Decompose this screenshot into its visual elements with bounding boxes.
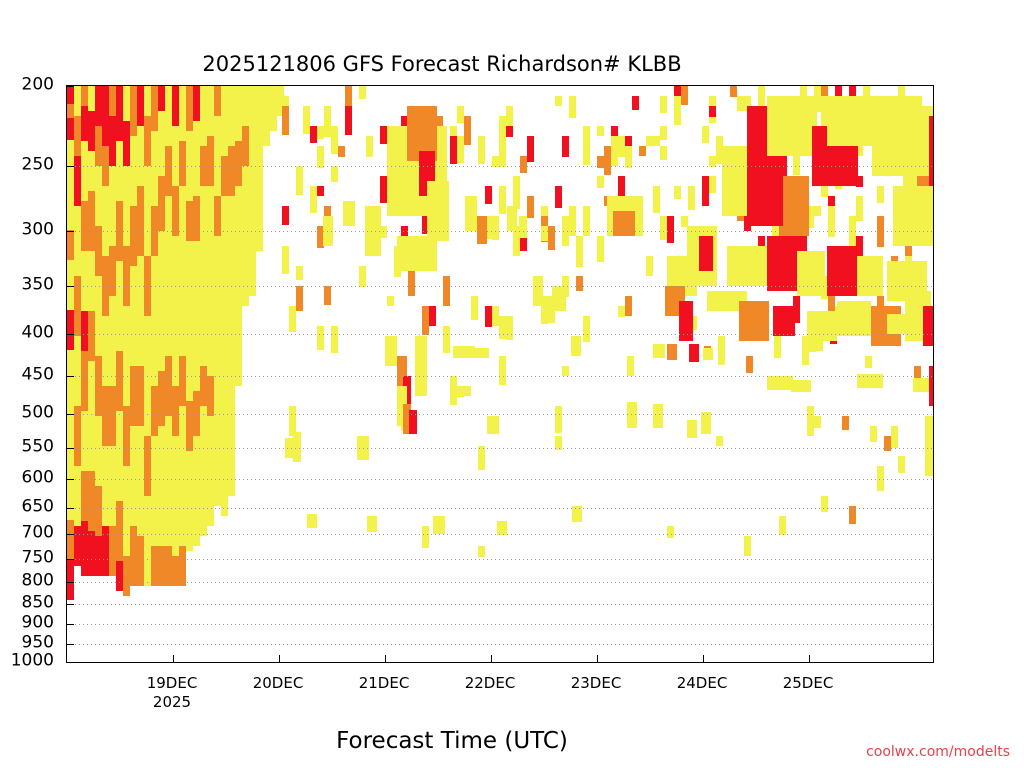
heatmap-cell <box>632 96 639 110</box>
heatmap-cell <box>541 206 548 216</box>
heatmap-cell <box>572 506 582 522</box>
heatmap-cell <box>499 186 506 214</box>
heatmap-cell <box>898 456 905 473</box>
heatmap-cell <box>499 316 506 339</box>
heatmap-cell <box>562 366 569 376</box>
heatmap-cell <box>207 136 214 186</box>
heatmap-cell <box>130 526 137 586</box>
heatmap-cell <box>380 176 387 203</box>
y-tick-label: 500 <box>22 404 54 421</box>
heatmap-cell <box>172 436 179 556</box>
heatmap-cell <box>102 526 109 576</box>
heatmap-cell <box>380 126 387 144</box>
heatmap-cell <box>186 401 193 451</box>
heatmap-cell <box>289 306 296 332</box>
heatmap-cell <box>200 406 207 536</box>
heatmap-cell <box>186 131 193 201</box>
y-tick-label: 800 <box>22 573 54 590</box>
y-tick-label: 1000 <box>11 653 54 670</box>
heatmap-cell <box>453 346 475 358</box>
heatmap-cell <box>702 186 709 206</box>
heatmap-cell <box>193 121 200 196</box>
heatmap-cell <box>576 276 583 291</box>
heatmap-cell <box>625 146 632 168</box>
heatmap-cell <box>67 86 74 104</box>
heatmap-cell <box>81 351 88 411</box>
heatmap-cell <box>137 426 144 536</box>
chart-title: 2025121806 GFS Forecast Richardson# KLBB <box>0 52 1024 76</box>
heatmap-cell <box>303 106 310 134</box>
heatmap-cell <box>137 186 144 256</box>
heatmap-cell <box>478 136 485 164</box>
heatmap-cell <box>186 201 193 241</box>
heatmap-cell <box>492 306 499 326</box>
heatmap-cell <box>74 116 81 156</box>
heatmap-cell <box>214 236 221 406</box>
heatmap-cell <box>323 216 333 246</box>
heatmap-cell <box>293 432 301 462</box>
heatmap-cell <box>282 246 289 274</box>
heatmap-cell <box>427 181 449 241</box>
heatmap-cell <box>144 86 151 116</box>
heatmap-cell <box>744 536 751 556</box>
x-tick <box>279 655 280 662</box>
heatmap-cell <box>746 356 753 373</box>
heatmap-cell <box>151 436 158 546</box>
heatmap-cell <box>151 131 158 206</box>
heatmap-cell <box>221 86 228 156</box>
plot-area <box>66 85 934 663</box>
heatmap-cell <box>165 546 172 586</box>
heatmap-cell <box>172 386 179 436</box>
heatmap-cell <box>249 136 256 296</box>
heatmap-cell <box>877 216 884 247</box>
heatmap-cell <box>172 236 179 386</box>
y-tick <box>67 534 74 535</box>
heatmap-cell <box>548 226 555 250</box>
heatmap-cell <box>387 296 394 306</box>
heatmap-cell <box>151 386 158 436</box>
heatmap-cell <box>102 256 109 316</box>
heatmap-cell <box>88 471 95 531</box>
heatmap-cell <box>158 111 165 176</box>
heatmap-cell <box>506 126 513 137</box>
heatmap-cell <box>527 136 534 162</box>
heatmap-cell <box>597 156 604 168</box>
heatmap-cell <box>67 230 74 260</box>
heatmap-cell <box>221 396 228 516</box>
heatmap-cell <box>625 136 632 146</box>
heatmap-cell <box>102 186 109 256</box>
heatmap-cell <box>95 166 102 226</box>
heatmap-cell <box>611 136 618 166</box>
y-tick <box>67 644 74 645</box>
heatmap-cell <box>667 344 677 360</box>
heatmap-cell <box>116 141 123 201</box>
heatmap-cell <box>158 546 165 586</box>
y-tick-label: 600 <box>22 470 54 487</box>
heatmap-cell <box>477 216 487 244</box>
heatmap-cell <box>877 186 884 203</box>
heatmap-cell <box>95 86 102 126</box>
heatmap-cell <box>172 86 179 126</box>
heatmap-cell <box>887 314 905 334</box>
heatmap-cell <box>137 86 144 126</box>
heatmap-cell <box>506 106 513 126</box>
heatmap-cell <box>109 86 116 116</box>
heatmap-cell <box>791 380 811 392</box>
heatmap-cell <box>123 121 130 166</box>
heatmap-cell <box>310 186 317 213</box>
heatmap-cell <box>415 336 427 396</box>
y-tick <box>67 376 74 377</box>
heatmap-cell <box>365 206 381 256</box>
heatmap-cell <box>923 306 934 346</box>
heatmap-cell <box>289 406 296 428</box>
heatmap-cell <box>102 386 109 446</box>
heatmap-cell <box>613 211 635 236</box>
heatmap-cell <box>367 516 377 532</box>
heatmap-cell <box>74 406 81 466</box>
heatmap-cell <box>471 296 478 320</box>
heatmap-cell <box>891 426 898 448</box>
heatmap-cell <box>457 106 464 123</box>
heatmap-cell <box>144 116 151 166</box>
heatmap-cell <box>123 306 130 406</box>
heatmap-cell <box>186 86 193 131</box>
heatmap-cell <box>849 216 856 246</box>
heatmap-cell <box>821 496 828 512</box>
heatmap-cell <box>343 201 355 226</box>
heatmap-cell <box>709 176 716 193</box>
heatmap-cell <box>857 374 883 388</box>
heatmap-cell <box>639 146 646 156</box>
heatmap-cell <box>487 416 499 434</box>
heatmap-cell <box>485 186 492 204</box>
x-tick-label: 25DEC <box>783 674 834 692</box>
heatmap-cell <box>478 446 485 470</box>
heatmap-cell <box>814 416 821 428</box>
heatmap-cell <box>193 391 200 436</box>
heatmap-cell <box>296 176 303 194</box>
heatmap-cell <box>324 106 331 137</box>
heatmap-cell <box>74 526 81 566</box>
heatmap-cell <box>674 186 681 199</box>
heatmap-cell <box>165 86 172 146</box>
heatmap-cell <box>74 156 81 206</box>
heatmap-cell <box>359 86 366 99</box>
heatmap-cell <box>228 146 235 196</box>
heatmap-cell <box>774 336 781 358</box>
heatmap-cell <box>397 236 437 271</box>
heatmap-cell <box>520 156 527 173</box>
y-tick-label: 200 <box>22 77 54 94</box>
heatmap-cell <box>130 206 137 266</box>
heatmap-cell <box>200 146 207 186</box>
heatmap-cell <box>179 356 186 406</box>
heatmap-cell <box>660 146 667 160</box>
heatmap-cell <box>123 466 130 556</box>
chart-root: 2025121806 GFS Forecast Richardson# KLBB… <box>0 0 1024 768</box>
heatmap-cell <box>207 86 214 136</box>
heatmap-cell <box>116 411 123 501</box>
heatmap-cell <box>527 196 534 218</box>
heatmap-cell <box>151 86 158 131</box>
heatmap-cell <box>200 366 207 406</box>
heatmap-cell <box>123 246 130 306</box>
heatmap-cell <box>88 311 95 361</box>
heatmap-cell <box>465 196 477 231</box>
heatmap-cell <box>473 348 489 358</box>
heatmap-cell <box>282 106 289 135</box>
heatmap-cell <box>151 546 158 586</box>
heatmap-cell <box>67 104 74 118</box>
heatmap-cell <box>88 151 95 191</box>
heatmap-cell <box>653 186 660 213</box>
heatmap-cell <box>165 416 172 546</box>
y-tick <box>67 414 74 415</box>
y-tick <box>67 582 74 583</box>
heatmap-cell <box>158 176 165 231</box>
heatmap-cell <box>485 306 492 327</box>
x-tick <box>491 655 492 662</box>
heatmap-cell <box>235 141 242 186</box>
heatmap-cell <box>296 266 303 280</box>
x-tick-label: 21DEC <box>359 674 410 692</box>
heatmap-cell <box>583 316 590 342</box>
heatmap-cell <box>74 206 81 276</box>
y-tick-label: 650 <box>22 498 54 515</box>
heatmap-cell <box>667 526 674 538</box>
colorbar <box>941 305 975 485</box>
heatmap-cell <box>310 126 317 143</box>
heatmap-cell <box>130 136 137 206</box>
heatmap-cell <box>646 136 653 146</box>
heatmap-cell <box>235 186 242 386</box>
heatmap-cell <box>130 426 137 526</box>
heatmap-cell <box>555 96 562 106</box>
y-tick-label: 700 <box>22 525 54 542</box>
heatmap-cell <box>228 86 235 146</box>
heatmap-cell <box>137 536 144 586</box>
heatmap-cell <box>151 256 158 386</box>
heatmap-cell <box>144 436 151 496</box>
heatmap-cell <box>221 196 228 396</box>
heatmap-cell <box>282 206 289 225</box>
heatmap-cell <box>457 136 464 163</box>
heatmap-cell <box>221 156 228 196</box>
heatmap-cell <box>507 206 517 231</box>
chart-title-text: 2025121806 GFS Forecast Richardson# KLBB <box>202 52 681 76</box>
heatmap-cell <box>618 136 625 157</box>
heatmap-cell <box>214 406 221 506</box>
heatmap-cell <box>109 446 116 526</box>
heatmap-cell <box>67 410 74 460</box>
heatmap-cell <box>450 136 457 164</box>
heatmap-cell <box>74 336 81 406</box>
heatmap-cell <box>67 260 74 310</box>
heatmap-cell <box>870 426 877 442</box>
heatmap-cell <box>478 546 485 557</box>
y-tick <box>67 286 74 287</box>
heatmap-cell <box>116 351 123 411</box>
heatmap-cell <box>464 116 471 145</box>
heatmap-cell <box>688 186 695 210</box>
heatmap-cell <box>857 256 883 296</box>
y-axis-labels: 2002503003504004505005506006507007508008… <box>0 85 62 663</box>
heatmap-cell <box>450 376 457 405</box>
x-tick <box>385 655 386 662</box>
heatmap-cell <box>324 286 331 305</box>
heatmap-cell <box>67 170 74 230</box>
heatmap-cell <box>186 451 193 551</box>
y-tick-label: 950 <box>22 634 54 651</box>
heatmap-cell <box>95 126 102 166</box>
heatmap-cell <box>667 216 674 243</box>
heatmap-cell <box>727 246 767 286</box>
y-tick-label: 300 <box>22 222 54 239</box>
heatmap-cell <box>541 226 548 241</box>
heatmap-cell <box>179 546 186 586</box>
heatmap-cell <box>492 156 499 167</box>
heatmap-cell <box>499 356 506 385</box>
heatmap-cell <box>123 86 130 121</box>
x-tick <box>597 655 598 662</box>
heatmap-cell <box>660 96 667 113</box>
y-tick <box>67 166 74 167</box>
heatmap-cell <box>67 460 74 520</box>
heatmap-cell <box>618 306 625 317</box>
heatmap-cell <box>109 246 116 296</box>
y-tick-label: 850 <box>22 594 54 611</box>
heatmap-cell <box>555 436 562 450</box>
heatmap-cell <box>158 86 165 111</box>
heatmap-cell <box>646 256 653 276</box>
heatmap-cell <box>689 344 699 362</box>
heatmap-cell <box>856 196 863 221</box>
heatmap-cell <box>604 146 611 175</box>
heatmap-cell <box>179 141 186 186</box>
heatmap-cell <box>317 326 324 350</box>
heatmap-cell <box>102 316 109 386</box>
y-tick-label: 250 <box>22 156 54 173</box>
heatmap-cell <box>200 86 207 146</box>
heatmap-cell <box>186 241 193 401</box>
heatmap-cell <box>737 96 744 111</box>
heatmap-cell <box>102 446 109 526</box>
heatmap-cell <box>67 118 74 140</box>
heatmap-cell <box>497 521 507 535</box>
heatmap-cell <box>716 436 723 446</box>
heatmap-cell <box>317 126 324 139</box>
y-tick-label: 900 <box>22 615 54 632</box>
heatmap-cell <box>597 176 604 188</box>
heatmap-cell <box>102 146 109 186</box>
heatmap-cell <box>123 406 130 466</box>
y-tick <box>67 559 74 560</box>
heatmap-cell <box>172 126 179 186</box>
heatmap-cell <box>385 336 397 366</box>
heatmap-cell <box>270 86 277 131</box>
heatmap-cell <box>767 376 793 390</box>
heatmap-cell <box>207 416 214 526</box>
heatmap-cell <box>331 126 338 154</box>
x-tick-label: 19DEC <box>147 674 198 692</box>
heatmap-cell <box>235 86 242 141</box>
heatmap-cell <box>88 361 95 411</box>
y-tick <box>67 334 74 335</box>
heatmap-cell <box>137 256 144 366</box>
heatmap-cell <box>193 436 200 546</box>
heatmap-cell <box>116 561 123 591</box>
heatmap-cell <box>709 106 716 117</box>
heatmap-cell <box>443 326 450 353</box>
y-tick-label: 750 <box>22 550 54 567</box>
heatmap-cell <box>95 416 102 486</box>
heatmap-cell <box>583 126 590 136</box>
heatmap-cell <box>687 420 697 438</box>
y-tick <box>67 508 74 509</box>
heatmap-cell <box>357 436 369 460</box>
heatmap-cell <box>296 286 303 311</box>
heatmap-cell <box>506 316 513 340</box>
heatmap-cell <box>95 486 102 536</box>
heatmap-cell <box>597 126 604 136</box>
heatmap-cell <box>317 146 324 168</box>
heatmap-cell <box>81 106 88 141</box>
heatmap-cell <box>583 146 590 160</box>
heatmap-cell <box>144 316 151 436</box>
heatmap-cell <box>207 186 214 376</box>
heatmap-cell <box>109 116 116 166</box>
y-tick <box>67 479 74 480</box>
heatmap-cell <box>583 216 590 236</box>
heatmap-cell <box>773 306 795 336</box>
heatmap-cell <box>88 86 95 111</box>
x-axis-title-text: Forecast Time (UTC) <box>336 728 568 754</box>
heatmap-cell <box>263 86 270 146</box>
heatmap-cell <box>158 231 165 371</box>
heatmap-cell <box>123 166 130 246</box>
heatmap-cell <box>165 356 172 416</box>
heatmap-cell <box>555 186 562 208</box>
heatmap-cell <box>242 166 249 306</box>
y-tick-label: 350 <box>22 277 54 294</box>
heatmap-cell <box>81 521 88 576</box>
credit-text: coolwx.com/modelts <box>866 744 1010 760</box>
heatmap-cell <box>179 406 186 546</box>
heatmap-cell <box>877 466 884 491</box>
heatmap-cell <box>925 416 934 476</box>
heatmap-cell <box>116 261 123 351</box>
heatmap-cell <box>679 301 693 341</box>
heatmap-cell <box>562 216 569 246</box>
heatmap-cell <box>109 386 116 446</box>
heatmap-cell <box>797 251 825 296</box>
x-tick-label: 23DEC <box>571 674 622 692</box>
heatmap-cell <box>242 86 249 126</box>
y-tick <box>67 624 74 625</box>
heatmap-cell <box>331 166 338 182</box>
heatmap-cell <box>807 406 814 436</box>
heatmap-cell <box>67 520 74 560</box>
heatmap-cell <box>74 276 81 336</box>
heatmap-cell <box>256 121 263 251</box>
heatmap-cell <box>380 226 387 238</box>
heatmap-cell <box>464 386 471 396</box>
heatmap-cell <box>116 201 123 261</box>
heatmap-cell <box>576 236 583 267</box>
